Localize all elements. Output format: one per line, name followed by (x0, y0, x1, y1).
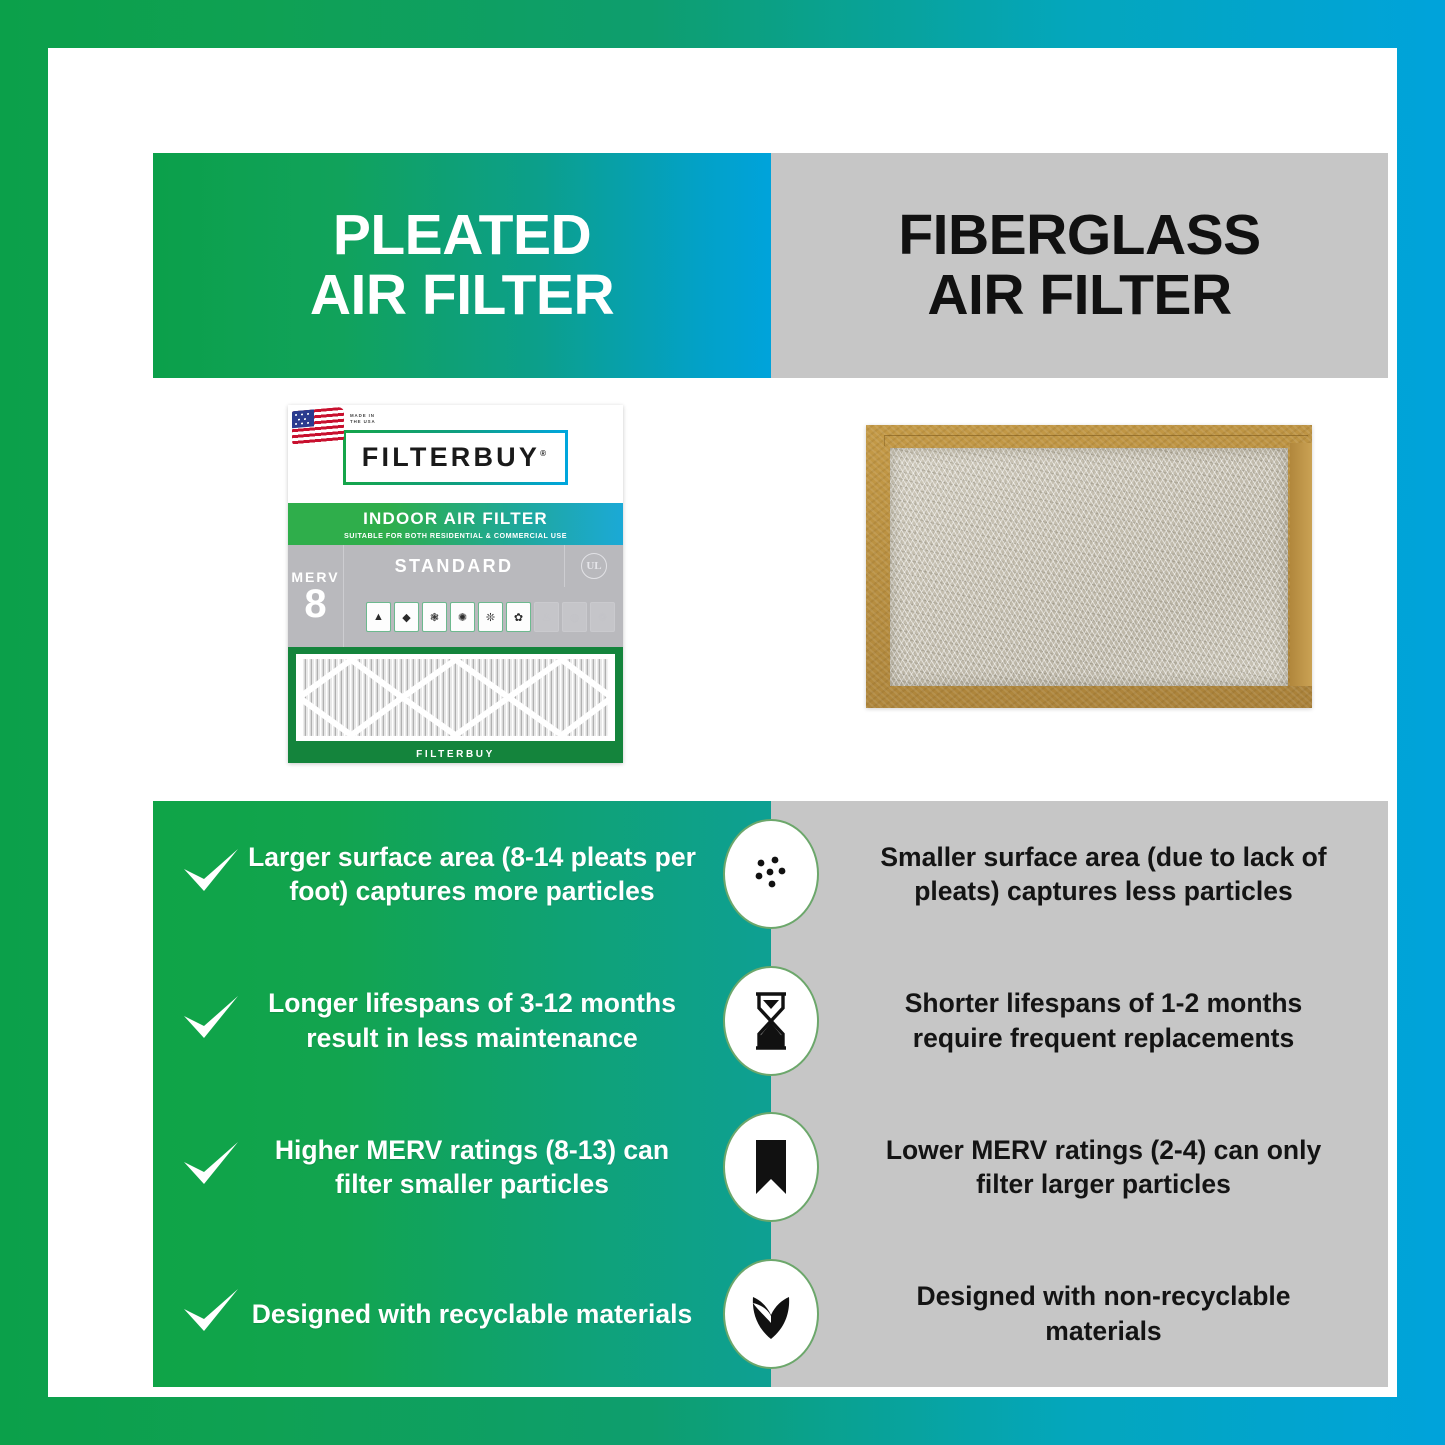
row-pleated-cell: Higher MERV ratings (8-13) can filter sm… (153, 1094, 771, 1241)
dust-lint-icon: ▲ (366, 602, 391, 632)
header-fiberglass: FIBERGLASS AIR FILTER (771, 153, 1388, 378)
table-row: Larger surface area (8-14 pleats per foo… (153, 801, 1388, 948)
header-pleated-title: PLEATED AIR FILTER (310, 206, 614, 325)
support-grid (296, 654, 615, 741)
bacteria-icon: ◍ (562, 602, 587, 632)
product-banner: INDOOR AIR FILTER SUITABLE FOR BOTH RESI… (288, 503, 623, 545)
made-in-line2: THE USA (350, 419, 376, 425)
brand-logo-text: FILTERBUY® (362, 442, 549, 473)
hourglass-icon (723, 966, 819, 1076)
header-fiberglass-line2: AIR FILTER (898, 266, 1260, 325)
checkmark-icon (175, 847, 247, 901)
grade-row: STANDARD UL (344, 545, 623, 587)
checkmark-icon (175, 1287, 247, 1341)
merv-badge: MERV 8 (288, 545, 344, 647)
support-grid-svg (296, 654, 615, 741)
product-box-top: MADE IN THE USA FILTERBUY® (288, 405, 623, 503)
row-pleated-text: Designed with recyclable materials (247, 1297, 743, 1331)
row-fiberglass-cell: Lower MERV ratings (2-4) can only filter… (771, 1094, 1388, 1241)
ul-certification: UL (565, 545, 623, 587)
row-pleated-cell: Longer lifespans of 3-12 months result i… (153, 948, 771, 1095)
table-row: Higher MERV ratings (8-13) can filter sm… (153, 1094, 1388, 1241)
particles-icon (723, 819, 819, 929)
outer-gradient-frame: PLEATED AIR FILTER FIBERGLASS AIR FILTER (0, 0, 1445, 1445)
inner-white-canvas: PLEATED AIR FILTER FIBERGLASS AIR FILTER (48, 48, 1397, 1397)
dust-mite-icon: ❊ (478, 602, 503, 632)
checkmark-icon (175, 1140, 247, 1194)
row-fiberglass-cell: Smaller surface area (due to lack of ple… (771, 801, 1388, 948)
row-fiberglass-text: Shorter lifespans of 1-2 months require … (859, 986, 1348, 1055)
smoke-icon: ♨ (534, 602, 559, 632)
feature-icon-row: ▲ ◆ ❃ ✺ ❊ ✿ ♨ ◍ ❁ (344, 587, 623, 647)
pleated-product-cell: MADE IN THE USA FILTERBUY® INDOOR AIR FI… (153, 378, 771, 801)
table-row: Designed with recyclable materials Desig… (153, 1241, 1388, 1388)
filterbuy-product-box: MADE IN THE USA FILTERBUY® INDOOR AIR FI… (288, 405, 623, 763)
pleated-media-view: FILTERBUY (288, 647, 623, 763)
leaf-icon (723, 1259, 819, 1369)
fiberglass-mesh-media (890, 448, 1288, 686)
header-pleated: PLEATED AIR FILTER (153, 153, 771, 378)
product-banner-main: INDOOR AIR FILTER (363, 509, 548, 529)
row-fiberglass-cell: Shorter lifespans of 1-2 months require … (771, 948, 1388, 1095)
ul-mark-icon: UL (581, 553, 607, 579)
product-images-band: MADE IN THE USA FILTERBUY® INDOOR AIR FI… (153, 378, 1388, 801)
header-band: PLEATED AIR FILTER FIBERGLASS AIR FILTER (153, 153, 1388, 378)
spec-strip-right: STANDARD UL ▲ ◆ ❃ ✺ (344, 545, 623, 647)
pet-dander-icon: ✿ (506, 602, 531, 632)
header-fiberglass-title: FIBERGLASS AIR FILTER (898, 206, 1260, 325)
checkmark-icon (175, 994, 247, 1048)
product-footer-brand: FILTERBUY (288, 749, 623, 760)
merv-value: 8 (304, 585, 326, 623)
row-pleated-cell: Larger surface area (8-14 pleats per foo… (153, 801, 771, 948)
row-fiberglass-cell: Designed with non-recyclable materials (771, 1241, 1388, 1388)
header-fiberglass-line1: FIBERGLASS (898, 206, 1260, 265)
header-pleated-line2: AIR FILTER (310, 266, 614, 325)
product-banner-sub: SUITABLE FOR BOTH RESIDENTIAL & COMMERCI… (344, 531, 567, 540)
made-in-usa-text: MADE IN THE USA (350, 413, 376, 426)
row-pleated-text: Larger surface area (8-14 pleats per foo… (247, 840, 743, 909)
infographic-content: PLEATED AIR FILTER FIBERGLASS AIR FILTER (153, 153, 1388, 1387)
fiberglass-filter-image (866, 425, 1312, 708)
row-pleated-text: Higher MERV ratings (8-13) can filter sm… (247, 1133, 743, 1202)
grade-label: STANDARD (344, 545, 565, 587)
pollen-icon: ❃ (422, 602, 447, 632)
table-row: Longer lifespans of 3-12 months result i… (153, 948, 1388, 1095)
insect-icon: ◆ (394, 602, 419, 632)
frame-seam-line (884, 435, 1308, 446)
comparison-rows: Larger surface area (8-14 pleats per foo… (153, 801, 1388, 1387)
bookmark-icon (723, 1112, 819, 1222)
row-fiberglass-text: Smaller surface area (due to lack of ple… (859, 840, 1348, 909)
product-spec-strip: MERV 8 STANDARD UL (288, 545, 623, 647)
header-pleated-line1: PLEATED (310, 206, 614, 265)
usa-flag-icon (292, 407, 344, 446)
row-pleated-cell: Designed with recyclable materials (153, 1241, 771, 1388)
brand-logo-frame: FILTERBUY® (343, 430, 568, 485)
virus-icon: ❁ (590, 602, 615, 632)
comparison-table: Larger surface area (8-14 pleats per foo… (153, 801, 1388, 1387)
mold-spores-icon: ✺ (450, 602, 475, 632)
row-fiberglass-text: Designed with non-recyclable materials (859, 1279, 1348, 1348)
frame-right-edge (1290, 443, 1312, 686)
row-fiberglass-text: Lower MERV ratings (2-4) can only filter… (859, 1133, 1348, 1202)
fiberglass-product-cell (771, 378, 1388, 801)
row-pleated-text: Longer lifespans of 3-12 months result i… (247, 986, 743, 1055)
